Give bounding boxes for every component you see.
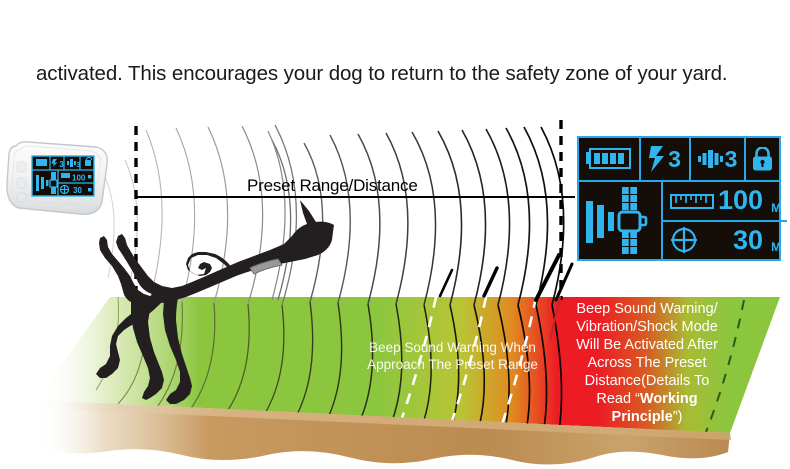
diagram-canvas: activated. This encourages your dog to r… <box>0 0 790 469</box>
shock-level-cell: 3 <box>641 138 691 180</box>
warn-line-1: Beep Sound Warning/ <box>576 301 717 317</box>
warn-line-6-bold: Working <box>640 391 698 407</box>
warn-line-3: Will Be Activated After <box>576 337 718 353</box>
remote-mini-display: 3 3 100 30 <box>32 156 94 196</box>
warn-line-2: Vibration/Shock Mode <box>576 319 718 335</box>
signal-arcs-upper <box>104 125 564 305</box>
battery-icon <box>586 148 632 170</box>
warn-line-4: Across The Preset <box>587 355 706 371</box>
collar-signal-icon <box>582 183 658 259</box>
padlock-icon <box>752 147 773 172</box>
warn-line-6-prefix: Read “ <box>596 391 640 407</box>
svg-text:3: 3 <box>59 160 64 169</box>
lock-cell <box>746 138 779 180</box>
lcd-display-panel: 3 3 <box>577 136 781 261</box>
lcd-readings: 100 M 30 M <box>663 182 787 259</box>
range-unit: M <box>771 201 781 220</box>
warn-line-7-suffix: ”) <box>673 409 683 425</box>
remote-side-buttons <box>17 162 26 202</box>
lcd-main-row: 100 M 30 M <box>579 182 779 259</box>
distance-row: 30 M <box>663 222 787 260</box>
range-row: 100 M <box>663 182 787 222</box>
crosshair-icon <box>670 226 698 254</box>
collar-signal-cell <box>579 182 663 259</box>
safe-zone-warning-text: Beep Sound Warning When Approach The Pre… <box>355 340 550 373</box>
warn-line-5: Distance(Details To <box>585 373 710 389</box>
vibration-level-cell: 3 <box>691 138 746 180</box>
ruler-icon <box>670 191 714 211</box>
warn-line-7-bold: Principle <box>612 409 673 425</box>
preset-range-label: Preset Range/Distance <box>247 176 418 196</box>
vibration-icon <box>698 149 724 169</box>
distance-value: 30 <box>733 227 763 254</box>
lcd-status-row: 3 3 <box>579 138 779 182</box>
beyond-range-warning-text: Beep Sound Warning/ Vibration/Shock Mode… <box>556 300 738 426</box>
distance-unit: M <box>771 240 781 259</box>
shock-level-value: 3 <box>668 148 681 171</box>
svg-text:100: 100 <box>72 174 86 183</box>
vibration-level-value: 3 <box>725 148 738 171</box>
range-value: 100 <box>718 187 763 214</box>
remote-control-device[interactable]: 3 3 100 30 <box>6 140 110 218</box>
lightning-bolt-icon <box>649 145 666 173</box>
battery-cell <box>579 138 641 180</box>
svg-text:3: 3 <box>76 160 80 169</box>
svg-text:30: 30 <box>73 186 82 195</box>
